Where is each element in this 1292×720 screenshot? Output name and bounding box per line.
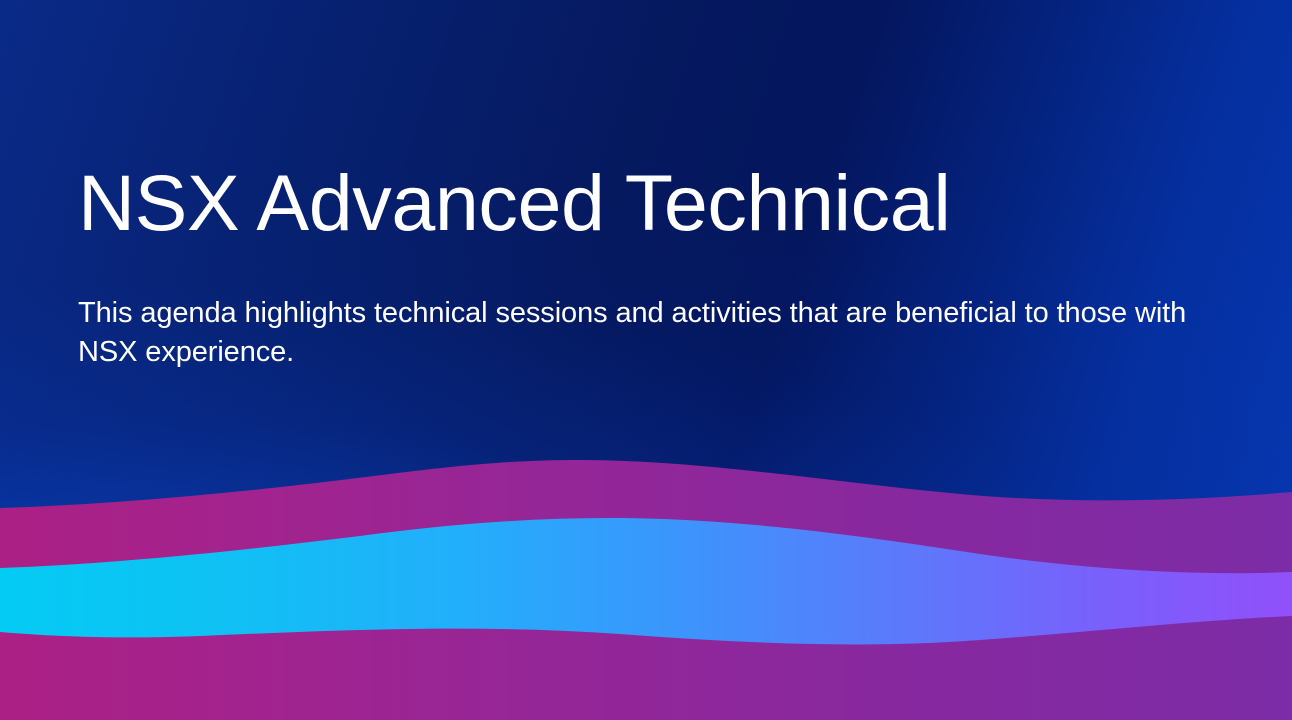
page-title: NSX Advanced Technical <box>78 163 950 242</box>
presentation-slide: NSX Advanced Technical This agenda highl… <box>0 0 1292 720</box>
decorative-wave-graphic <box>0 460 1292 720</box>
slide-subtitle: This agenda highlights technical session… <box>78 294 1238 372</box>
